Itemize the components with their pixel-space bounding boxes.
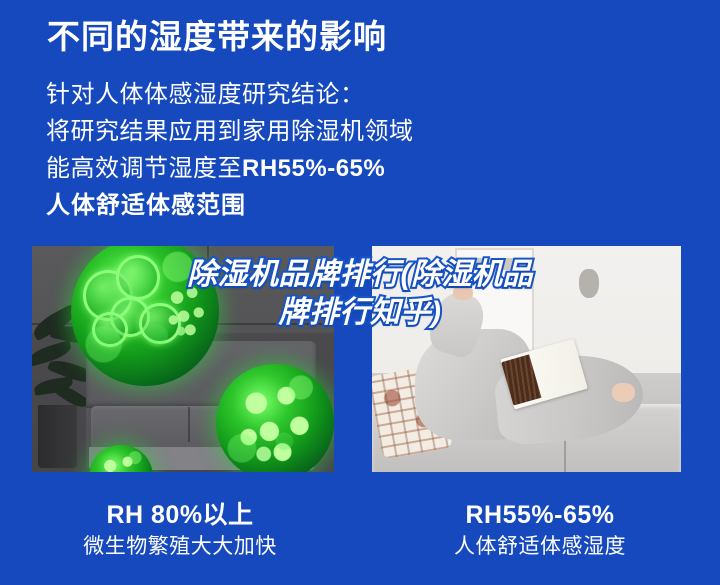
caption-row: RH 80%以上 微生物繁殖大大加快 RH55%-65% 人体舒适体感湿度 [0, 500, 720, 585]
intro-line-3-highlight: RH55%-65% [242, 155, 385, 182]
caption-left-description: 微生物繁殖大大加快 [0, 534, 360, 560]
photo-high-humidity [32, 246, 334, 472]
caption-right: RH55%-65% 人体舒适体感湿度 [360, 500, 720, 585]
photo-strip [0, 246, 720, 472]
germ-icon [71, 246, 219, 386]
intro-paragraph: 针对人体体感湿度研究结论： 将研究结果应用到家用除湿机领域 能高效调节湿度至RH… [46, 76, 666, 224]
caption-right-description: 人体舒适体感湿度 [360, 534, 720, 560]
person-reading-icon [384, 321, 637, 457]
wall-speaker-icon [579, 269, 599, 298]
caption-left-value: RH 80%以上 [0, 500, 360, 530]
frame-art [469, 258, 519, 270]
germ-icon [216, 364, 334, 472]
bright-room-scene [372, 246, 681, 472]
intro-line-2: 将研究结果应用到家用除湿机领域 [46, 113, 666, 150]
person-foot [612, 383, 635, 402]
humidity-infographic-poster: 不同的湿度带来的影响 针对人体体感湿度研究结论： 将研究结果应用到家用除湿机领域… [0, 0, 720, 585]
photo-comfort-humidity [372, 246, 681, 472]
caption-right-value: RH55%-65% [360, 500, 720, 530]
intro-line-1: 针对人体体感湿度研究结论： [46, 76, 666, 113]
intro-line-3: 能高效调节湿度至RH55%-65% [46, 150, 666, 187]
intro-line-3-normal: 能高效调节湿度至 [46, 155, 242, 182]
dark-room-scene [32, 246, 334, 472]
page-title: 不同的湿度带来的影响 [47, 16, 387, 57]
cushion-divider [188, 407, 190, 442]
person-hand [453, 284, 473, 300]
caption-left: RH 80%以上 微生物繁殖大大加快 [0, 500, 360, 585]
germ-icon [89, 445, 152, 472]
intro-line-4: 人体舒适体感范围 [46, 187, 666, 224]
